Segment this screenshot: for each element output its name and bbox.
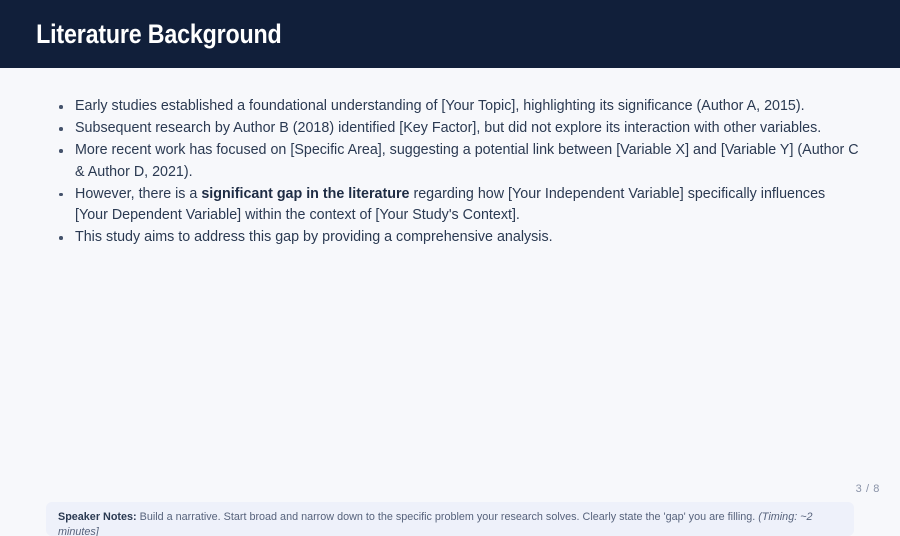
list-item: Subsequent research by Author B (2018) i…: [75, 118, 860, 140]
bullet-text: However, there is a: [75, 186, 201, 202]
bullet-text: More recent work has focused on [Specifi…: [75, 142, 859, 180]
list-item: More recent work has focused on [Specifi…: [75, 140, 860, 183]
list-item: Early studies established a foundational…: [75, 96, 860, 118]
bullet-text: This study aims to address this gap by p…: [75, 229, 553, 245]
bullet-emphasis: significant gap in the literature: [201, 186, 409, 202]
slide-header: Literature Background: [0, 0, 900, 68]
speaker-notes-label: Speaker Notes:: [58, 511, 137, 523]
bullet-text: Subsequent research by Author B (2018) i…: [75, 120, 821, 136]
presentation-slide: Literature Background Early studies esta…: [0, 0, 900, 507]
speaker-notes-body: Build a narrative. Start broad and narro…: [137, 511, 759, 523]
list-item: However, there is a significant gap in t…: [75, 184, 860, 227]
list-item: This study aims to address this gap by p…: [75, 227, 860, 249]
page-indicator: 3 / 8: [856, 483, 880, 495]
slide-content-area: Early studies established a foundational…: [0, 68, 900, 507]
speaker-notes-text: Speaker Notes: Build a narrative. Start …: [58, 510, 842, 536]
bullet-text: Early studies established a foundational…: [75, 98, 805, 114]
bullet-list: Early studies established a foundational…: [40, 96, 860, 249]
speaker-notes-box: Speaker Notes: Build a narrative. Start …: [46, 502, 854, 536]
page-title: Literature Background: [0, 19, 282, 50]
